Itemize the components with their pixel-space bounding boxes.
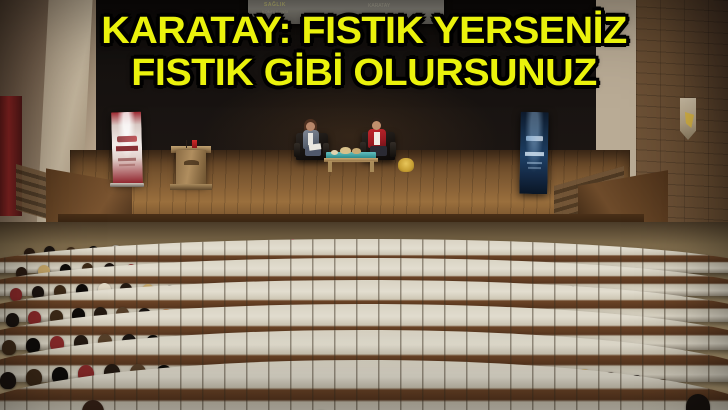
speaker-right-shirt bbox=[374, 132, 380, 145]
speaker-left-head bbox=[306, 122, 315, 131]
armchair-right-arm-far bbox=[390, 142, 396, 157]
banner-left-subtext-a bbox=[118, 158, 136, 161]
speaker-left-shirt bbox=[308, 133, 313, 145]
auditorium-seating bbox=[0, 222, 728, 410]
speaker-right-head bbox=[372, 121, 381, 130]
banner-right-headline bbox=[525, 152, 544, 156]
armchair-left-arm-near bbox=[294, 143, 300, 157]
coffee-table-legs bbox=[328, 161, 374, 172]
podium-base bbox=[170, 184, 212, 190]
audience-head bbox=[2, 340, 16, 355]
banner-left-logo-icon bbox=[117, 136, 137, 143]
audience-head bbox=[0, 372, 16, 389]
audience-head bbox=[6, 313, 19, 327]
table-bowl-nuts-b bbox=[352, 148, 361, 154]
stage-floor-plant bbox=[398, 158, 414, 172]
projection-screen-title: SAĞLIK bbox=[264, 2, 286, 8]
podium-front-inset bbox=[184, 160, 199, 165]
projection-screen-name: KARATAY bbox=[368, 3, 390, 9]
banner-right-subtext-b bbox=[528, 167, 541, 169]
podium-flag-icon bbox=[192, 140, 197, 148]
banner-left-stand bbox=[110, 183, 144, 187]
banner-left-subtext-b bbox=[119, 164, 135, 166]
banner-left-headline bbox=[116, 146, 138, 152]
news-photo-auditorium: SAĞLIK KONFERANSI KARATAY bbox=[0, 0, 728, 410]
banner-right-subtext-a bbox=[527, 162, 542, 164]
banner-right-logo-icon bbox=[526, 136, 543, 141]
podium-lectern bbox=[176, 150, 206, 186]
projection-screen-subtitle: KONFERANSI bbox=[262, 9, 288, 14]
table-bowl-nuts-a bbox=[340, 147, 351, 154]
table-bowl-small bbox=[331, 150, 338, 155]
podium-microphone-icon bbox=[186, 140, 187, 148]
